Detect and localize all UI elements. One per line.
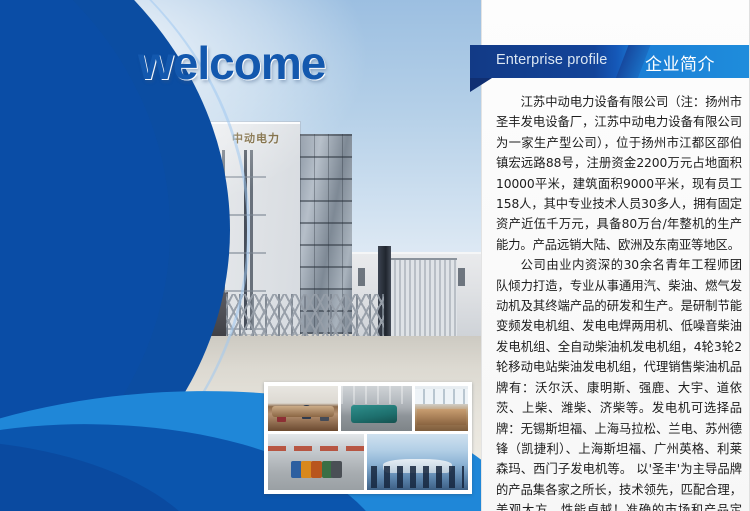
person-figure <box>277 408 286 422</box>
person-figure <box>302 405 311 419</box>
page-root: 中动电力 江苏中动电力设备有限公司 Zhongdong Power Equipm… <box>0 0 750 511</box>
collage-row-bottom <box>268 434 468 490</box>
person-figure <box>320 407 329 421</box>
banner-corner-tail <box>470 78 492 92</box>
photo-assembly-warehouse <box>268 434 364 490</box>
machine-unit <box>301 461 312 478</box>
photo-open-plan-office <box>415 386 468 431</box>
photo-collage <box>264 382 472 494</box>
photo-large-conference-room <box>367 434 468 490</box>
retractable-gate <box>226 294 384 338</box>
roller-shutter-door <box>391 258 457 336</box>
company-profile-text: 江苏中动电力设备有限公司（注：扬州市圣丰发电设备厂，江苏中动电力设备有限公司为一… <box>496 92 742 511</box>
banner-english-label: Enterprise profile <box>496 52 607 68</box>
profile-paragraph-2: 公司由业内资深的30余名青年工程师团队倾力打造，专业从事通用汽、柴油、燃气发动机… <box>496 255 742 511</box>
photo-meeting-room-wood-table <box>268 386 338 431</box>
photo-generator-set-workshop <box>341 386 411 431</box>
panel-background: Enterprise profile 企业简介 江苏中动电力设备有限公司（注：扬… <box>482 0 750 511</box>
machine-unit <box>331 461 342 478</box>
profile-paragraph-1: 江苏中动电力设备有限公司（注：扬州市圣丰发电设备厂，江苏中动电力设备有限公司为一… <box>496 92 742 255</box>
collage-row-top <box>268 386 468 431</box>
welcome-headline: welcome <box>138 36 325 90</box>
banner-chinese-label: 企业简介 <box>645 50 715 75</box>
enterprise-profile-banner: Enterprise profile 企业简介 <box>470 45 750 78</box>
hero-photo-panel: 中动电力 江苏中动电力设备有限公司 Zhongdong Power Equipm… <box>0 0 481 511</box>
enterprise-profile-panel: Enterprise profile 企业简介 江苏中动电力设备有限公司（注：扬… <box>481 0 750 511</box>
machine-unit <box>311 461 322 478</box>
